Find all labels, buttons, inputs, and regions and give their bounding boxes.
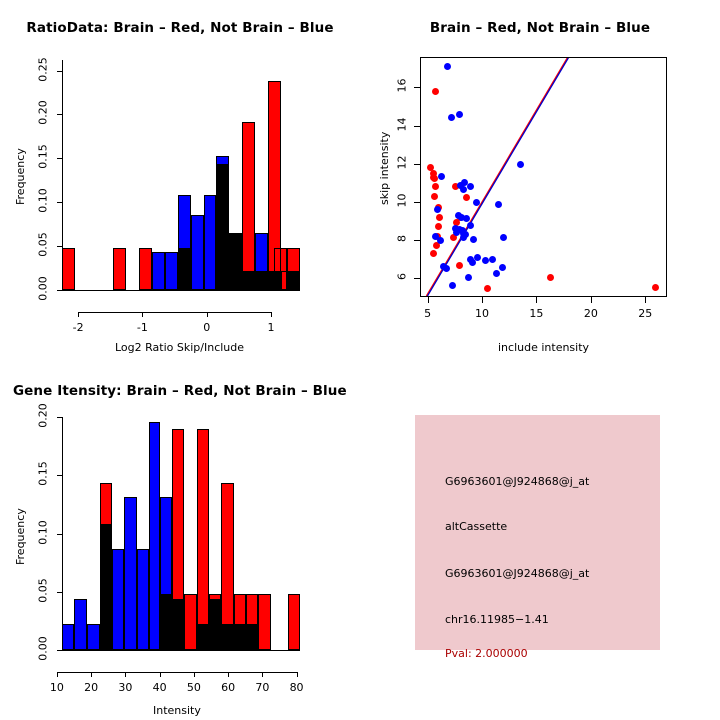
- x-tick: [228, 672, 229, 677]
- scatter-point-brain: [456, 262, 463, 269]
- y-tick: [57, 650, 62, 651]
- scatter-point-not-brain: [467, 222, 474, 229]
- histogram-bar-not-brain: [112, 549, 124, 650]
- histogram-bar-brain: [139, 248, 152, 290]
- panel-ratio-plotarea: 0.000.050.100.150.200.25-2-101: [0, 0, 360, 360]
- histogram-bar-not-brain: [137, 549, 149, 650]
- histogram-bar-brain: [100, 483, 112, 650]
- scatter-point-brain: [432, 88, 439, 95]
- scatter-point-brain: [432, 183, 439, 190]
- y-tick-label: 0.10: [37, 519, 50, 545]
- x-tick: [91, 672, 92, 677]
- histogram-bar-brain: [255, 271, 268, 290]
- panel-gene-plotarea: 0.000.050.100.150.201020304050607080: [0, 360, 360, 720]
- x-tick-label: 1: [259, 321, 283, 334]
- info-line-5: Pval: 2.000000: [445, 647, 528, 660]
- scatter-point-not-brain: [465, 274, 472, 281]
- y-axis-line: [62, 417, 63, 650]
- histogram-bar-brain: [197, 429, 209, 650]
- regression-line: [360, 0, 720, 360]
- histogram-bar-brain: [172, 429, 184, 650]
- x-tick: [160, 672, 161, 677]
- x-tick-label: 10: [43, 681, 71, 694]
- x-tick: [297, 672, 298, 677]
- histogram-bar-brain: [113, 248, 126, 290]
- scatter-point-not-brain: [495, 201, 502, 208]
- x-tick: [262, 672, 263, 677]
- y-tick-label: 0.00: [37, 276, 50, 302]
- scatter-point-not-brain: [469, 259, 476, 266]
- histogram-bar-brain: [288, 594, 300, 650]
- histogram-bar-brain: [178, 248, 191, 290]
- histogram-bar-not-brain: [152, 252, 165, 290]
- histogram-bar-brain: [234, 594, 246, 650]
- scatter-point-not-brain: [493, 270, 500, 277]
- scatter-point-not-brain: [456, 111, 463, 118]
- histogram-bar-brain: [258, 594, 270, 650]
- scatter-point-brain: [484, 285, 491, 292]
- scatter-point-brain: [435, 223, 442, 230]
- x-tick: [78, 312, 79, 317]
- scatter-point-not-brain: [443, 265, 450, 272]
- histogram-bar-brain: [287, 248, 300, 290]
- histogram-bar-not-brain: [204, 195, 217, 290]
- scatter-point-brain: [547, 274, 554, 281]
- histogram-bar-brain: [221, 483, 233, 650]
- scatter-point-not-brain: [500, 234, 507, 241]
- y-tick-label: 0.15: [37, 144, 50, 170]
- y-tick-label: 0.05: [37, 232, 50, 258]
- scatter-point-not-brain: [438, 173, 445, 180]
- histogram-bar-not-brain: [191, 215, 204, 290]
- histogram-bar-brain: [209, 594, 221, 650]
- scatter-point-brain: [436, 214, 443, 221]
- y-tick: [57, 290, 62, 291]
- panel-info: G6963601@J924868@j_ataltCassetteG6963601…: [360, 360, 720, 720]
- x-tick-label: 70: [248, 681, 276, 694]
- scatter-point-not-brain: [434, 206, 441, 213]
- y-tick: [57, 534, 62, 535]
- y-tick-label: 0.10: [37, 188, 50, 214]
- histogram-bar-brain: [229, 233, 242, 290]
- histogram-bar-not-brain: [124, 497, 136, 650]
- x-tick: [57, 672, 58, 677]
- x-tick-label: 80: [283, 681, 311, 694]
- histogram-bar-brain: [274, 248, 287, 290]
- histogram-bar-brain: [216, 164, 229, 290]
- x-tick-label: 60: [214, 681, 242, 694]
- histogram-bar-not-brain: [149, 422, 160, 650]
- panel-ratio-histogram: RatioData: Brain – Red, Not Brain – Blue…: [0, 0, 360, 360]
- histogram-bar-brain: [62, 248, 75, 290]
- y-tick: [57, 158, 62, 159]
- x-tick-label: 40: [146, 681, 174, 694]
- x-tick-label: 0: [195, 321, 219, 334]
- x-tick-label: 20: [77, 681, 105, 694]
- panel-gene-histogram: Gene Itensity: Brain – Red, Not Brain – …: [0, 360, 360, 720]
- x-tick-label: -2: [66, 321, 90, 334]
- y-tick-label: 0.05: [37, 577, 50, 603]
- y-tick-label: 0.20: [37, 403, 50, 429]
- x-tick-label: 50: [180, 681, 208, 694]
- y-tick: [57, 592, 62, 593]
- histogram-bar-brain: [160, 594, 172, 650]
- y-tick: [57, 202, 62, 203]
- x-tick-axis: [57, 672, 297, 673]
- x-tick: [207, 312, 208, 317]
- y-tick-label: 0.25: [37, 56, 50, 82]
- x-tick: [194, 672, 195, 677]
- x-axis-line: [62, 290, 300, 291]
- y-tick-label: 0.00: [37, 636, 50, 662]
- y-tick: [57, 71, 62, 72]
- y-tick-label: 0.20: [37, 100, 50, 126]
- info-line-1: G6963601@J924868@j_at: [445, 475, 589, 488]
- scatter-point-brain: [430, 250, 437, 257]
- x-tick-label: 30: [111, 681, 139, 694]
- scatter-point-not-brain: [444, 63, 451, 70]
- histogram-bar-brain: [246, 594, 258, 650]
- info-line-2: altCassette: [445, 520, 507, 533]
- scatter-point-brain: [463, 194, 470, 201]
- scatter-point-not-brain: [460, 186, 467, 193]
- histogram-bar-not-brain: [87, 624, 100, 650]
- histogram-bar-not-brain: [165, 252, 178, 290]
- x-tick: [125, 672, 126, 677]
- x-tick: [142, 312, 143, 317]
- figure-canvas: RatioData: Brain – Red, Not Brain – Blue…: [0, 0, 720, 720]
- panel-scatter: Brain – Red, Not Brain – Blue skip inten…: [360, 0, 720, 360]
- info-line-4: chr16.11985−1.41: [445, 613, 549, 626]
- histogram-bar-not-brain: [74, 599, 86, 650]
- scatter-point-brain: [431, 193, 438, 200]
- panel-scatter-plotarea: 6810121416510152025: [360, 0, 720, 360]
- y-tick: [57, 114, 62, 115]
- scatter-point-not-brain: [517, 161, 524, 168]
- x-tick: [271, 312, 272, 317]
- info-box: G6963601@J924868@j_ataltCassetteG6963601…: [415, 415, 660, 650]
- y-tick-label: 0.15: [37, 461, 50, 487]
- y-tick: [57, 417, 62, 418]
- histogram-bar-brain: [184, 594, 196, 650]
- histogram-bar-brain: [242, 122, 255, 290]
- scatter-point-not-brain: [467, 183, 474, 190]
- x-axis-line: [62, 650, 300, 651]
- y-tick: [57, 475, 62, 476]
- scatter-point-brain: [652, 284, 659, 291]
- info-line-3: G6963601@J924868@j_at: [445, 567, 589, 580]
- x-tick-label: -1: [130, 321, 154, 334]
- x-tick-axis: [78, 312, 271, 313]
- histogram-bar-not-brain: [62, 624, 74, 650]
